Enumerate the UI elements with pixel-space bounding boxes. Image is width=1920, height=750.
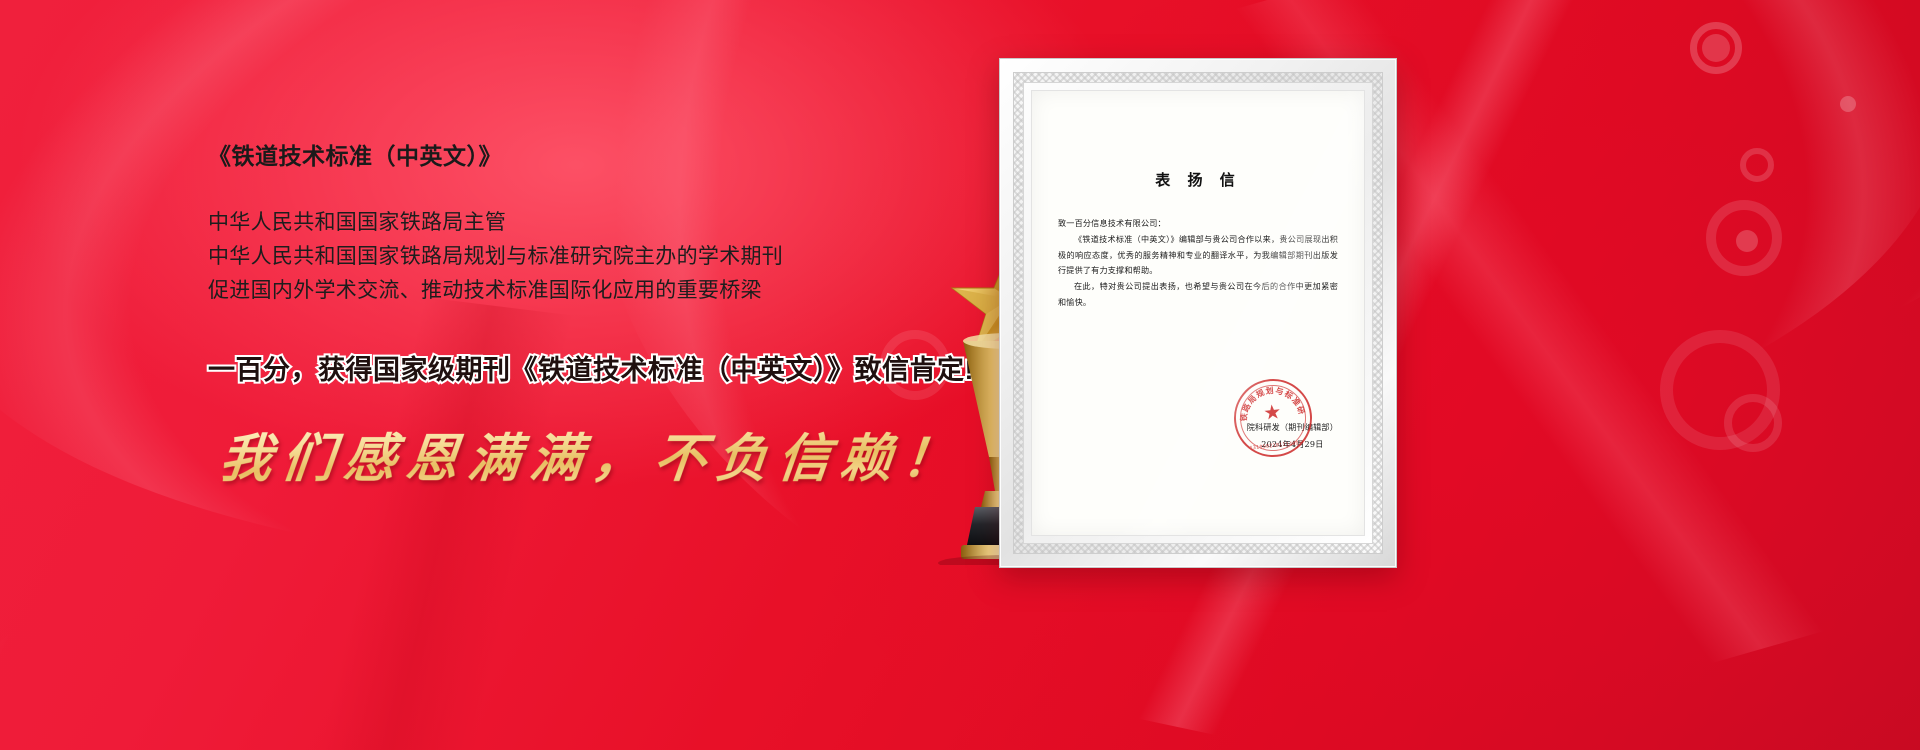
- certificate-salutation: 致一百分信息技术有限公司：: [1058, 216, 1338, 232]
- glass-glare-overlay: [1032, 91, 1364, 535]
- bokeh-circle-icon: [1724, 394, 1782, 452]
- bokeh-circle-icon: [1702, 34, 1730, 62]
- official-seal-icon: 国家铁路局规划与标准研究院 ★ 1310502101114095: [1230, 375, 1316, 461]
- frame-border-inner: 表 扬 信 致一百分信息技术有限公司： 《铁道技术标准（中英文）》编辑部与贵公司…: [1023, 82, 1373, 544]
- certificate-frame: 表 扬 信 致一百分信息技术有限公司： 《铁道技术标准（中英文）》编辑部与贵公司…: [999, 58, 1397, 568]
- headline-text: 一百分，获得国家级期刊《铁道技术标准（中英文）》致信肯定!: [208, 348, 968, 387]
- calligraphy-slogan: 我们感恩满满，不负信赖！: [217, 429, 971, 489]
- journal-subline-2: 中华人民共和国国家铁路局规划与标准研究院主办的学术期刊: [208, 240, 968, 274]
- bokeh-circle-icon: [1690, 22, 1742, 74]
- certificate-title: 表 扬 信: [1058, 169, 1338, 190]
- journal-subline-1: 中华人民共和国国家铁路局主管: [208, 206, 968, 240]
- bokeh-circle-icon: [1736, 230, 1758, 252]
- banner-text-block: 《铁道技术标准（中英文）》 中华人民共和国国家铁路局主管 中华人民共和国国家铁路…: [208, 140, 968, 489]
- bokeh-circle-icon: [1840, 96, 1856, 112]
- certificate-paragraph-1: 《铁道技术标准（中英文）》编辑部与贵公司合作以来，贵公司展现出积极的响应态度，优…: [1058, 232, 1338, 279]
- certificate-paper: 表 扬 信 致一百分信息技术有限公司： 《铁道技术标准（中英文）》编辑部与贵公司…: [1031, 90, 1365, 536]
- journal-title: 《铁道技术标准（中英文）》: [208, 140, 968, 172]
- bokeh-circle-icon: [1740, 148, 1774, 182]
- bokeh-circle-icon: [1660, 330, 1780, 450]
- journal-subline-3: 促进国内外学术交流、推动技术标准国际化应用的重要桥梁: [208, 274, 968, 308]
- promo-banner: 《铁道技术标准（中英文）》 中华人民共和国国家铁路局主管 中华人民共和国国家铁路…: [0, 0, 1920, 750]
- certificate-paragraph-2: 在此，特对贵公司提出表扬，也希望与贵公司在今后的合作中更加紧密和愉快。: [1058, 279, 1338, 311]
- seal-arc-label: 国家铁路局规划与标准研究院: [1232, 377, 1306, 423]
- frame-border-outer: 表 扬 信 致一百分信息技术有限公司： 《铁道技术标准（中英文）》编辑部与贵公司…: [1013, 72, 1383, 554]
- bokeh-circle-icon: [1706, 200, 1782, 276]
